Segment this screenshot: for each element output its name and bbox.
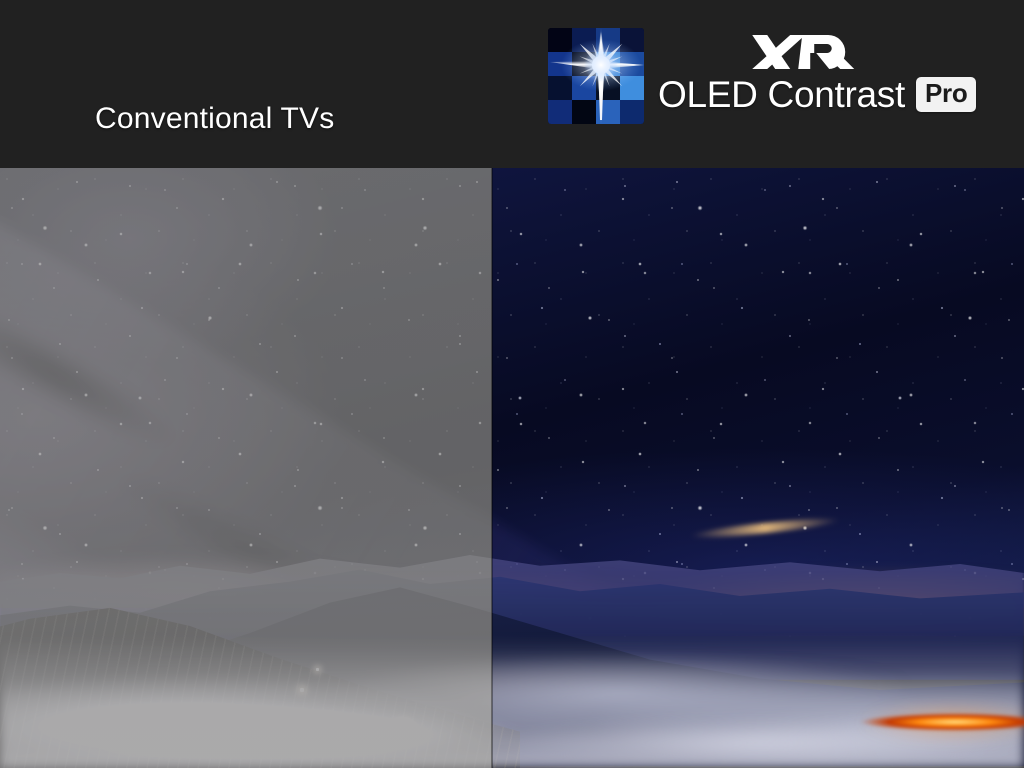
pro-badge: Pro (916, 77, 976, 111)
product-name-line: OLED Contrast Pro (658, 76, 976, 113)
conventional-tv-panel (0, 168, 492, 768)
brand-text-block: OLED Contrast Pro (658, 28, 976, 113)
split-comparison-image (0, 168, 1024, 768)
fog-layer-near-dull (0, 688, 492, 768)
comparison-divider (491, 168, 493, 768)
conventional-tvs-label: Conventional TVs (95, 104, 334, 134)
starburst-icon (548, 28, 644, 124)
light-point-2-dull (300, 688, 304, 692)
night-sky-scene-dull (0, 168, 492, 768)
comparison-graphic: Conventional TVs (0, 0, 1024, 768)
xr-starburst-tile-icon (548, 28, 644, 124)
light-point-1-dull (400, 724, 407, 731)
brand-lockup: OLED Contrast Pro (548, 28, 976, 124)
header-bar: Conventional TVs (0, 0, 1024, 168)
xr-wordmark-icon (660, 31, 976, 73)
product-name-label: OLED Contrast (658, 76, 905, 113)
light-point-3-dull (316, 668, 319, 671)
